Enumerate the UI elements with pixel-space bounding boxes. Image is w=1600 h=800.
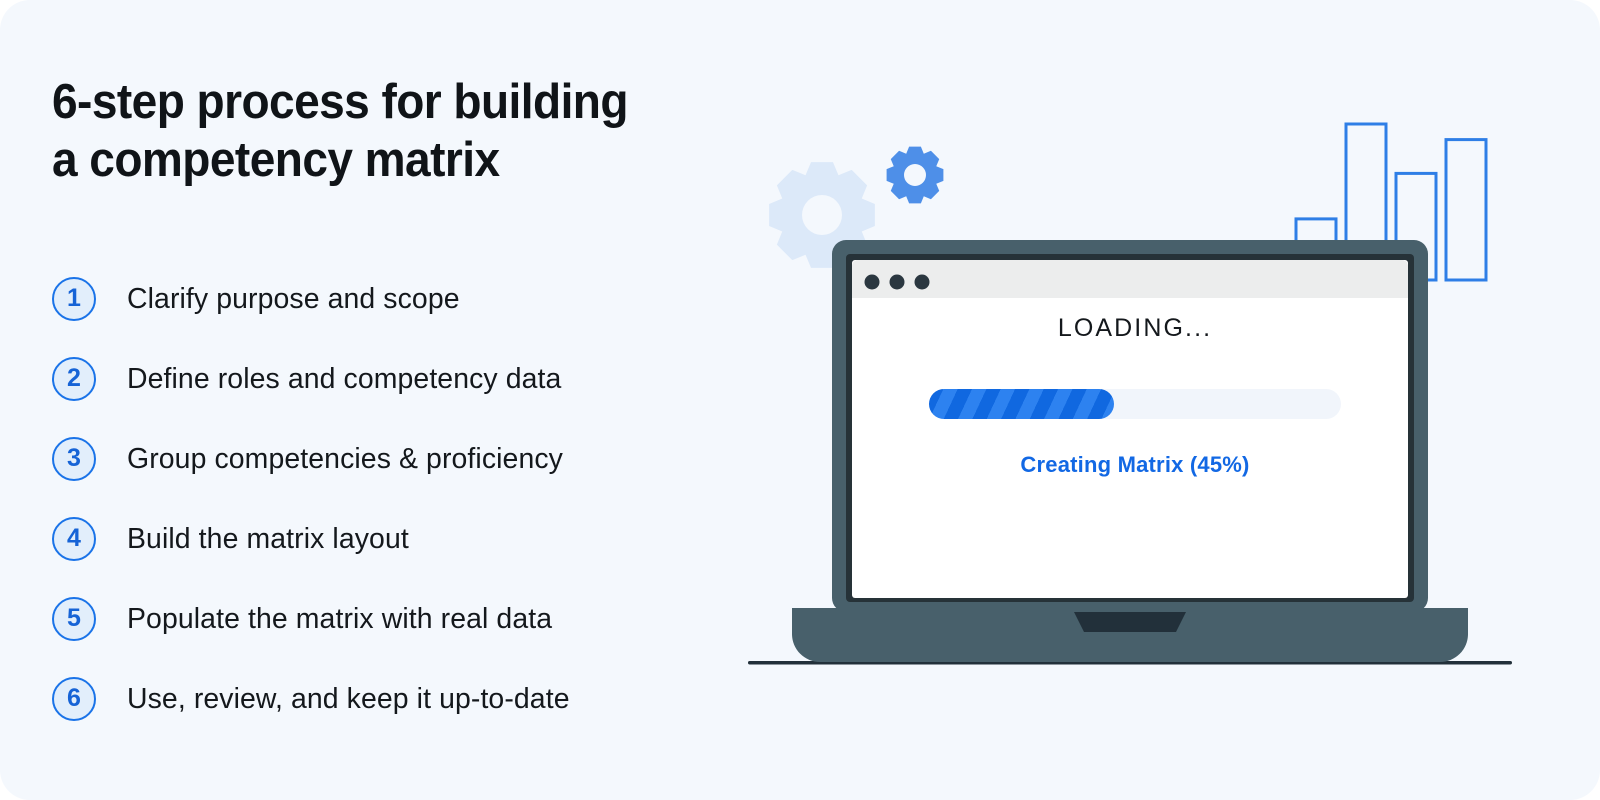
step-badge-3: 3 (52, 437, 96, 481)
progress-caption: Creating Matrix (45%) (1020, 452, 1249, 478)
step-list: 1 Clarify purpose and scope 2 Define rol… (52, 259, 752, 739)
step-label-1: Clarify purpose and scope (127, 283, 460, 316)
step-label-5: Populate the matrix with real data (127, 603, 552, 636)
text-panel: 6-step process for building a competency… (52, 74, 752, 190)
laptop-illustration: LOADING... Creating Matrix (45%) (740, 110, 1520, 690)
step-label-6: Use, review, and keep it up-to-date (127, 683, 570, 716)
loading-label: LOADING... (1058, 314, 1212, 343)
step-badge-5: 5 (52, 597, 96, 641)
list-item: 2 Define roles and competency data (52, 339, 752, 419)
list-item: 6 Use, review, and keep it up-to-date (52, 659, 752, 739)
page-title: 6-step process for building a competency… (52, 74, 710, 190)
infographic-canvas: 6-step process for building a competency… (0, 0, 1600, 800)
step-label-3: Group competencies & proficiency (127, 443, 563, 476)
step-label-4: Build the matrix layout (127, 523, 409, 556)
step-badge-4: 4 (52, 517, 96, 561)
list-item: 4 Build the matrix layout (52, 499, 752, 579)
screen-content: LOADING... Creating Matrix (45%) (852, 272, 1418, 602)
list-item: 3 Group competencies & proficiency (52, 419, 752, 499)
progress-bar-track[interactable] (929, 389, 1341, 419)
list-item: 1 Clarify purpose and scope (52, 259, 752, 339)
progress-bar-fill (929, 389, 1114, 419)
step-badge-6: 6 (52, 677, 96, 721)
step-badge-2: 2 (52, 357, 96, 401)
step-badge-1: 1 (52, 277, 96, 321)
list-item: 5 Populate the matrix with real data (52, 579, 752, 659)
step-label-2: Define roles and competency data (127, 363, 561, 396)
